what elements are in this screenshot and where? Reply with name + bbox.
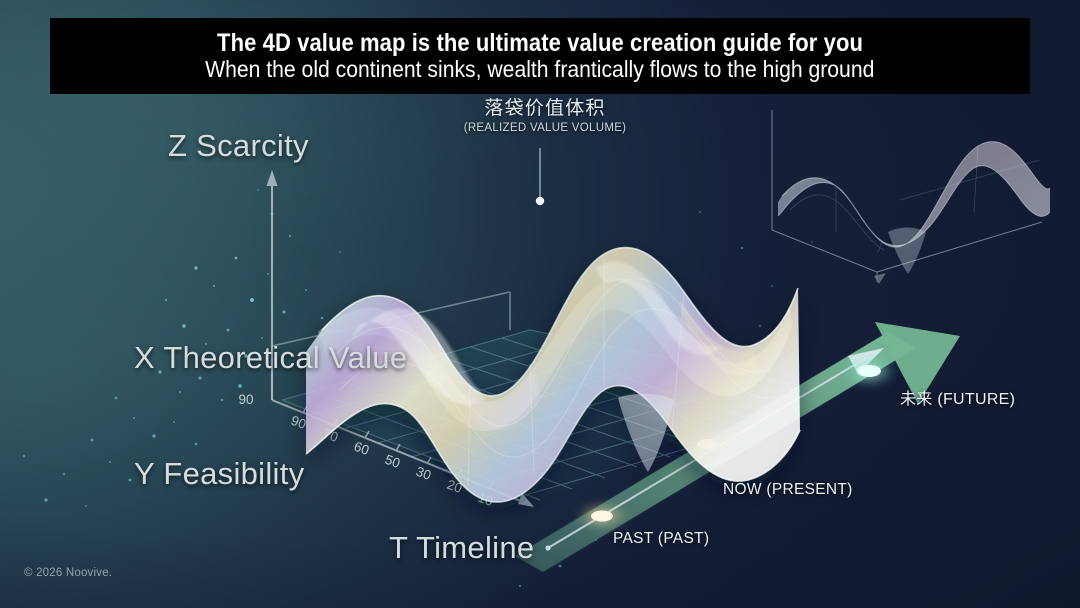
callout-english-text: (REALIZED VALUE VOLUME) [455,122,635,134]
axis-label-t: T Timeline [389,530,534,566]
surface-callout: 落袋价值体积 (REALIZED VALUE VOLUME) [455,98,635,134]
timeline-label-past: PAST (PAST) [613,530,709,548]
title-banner: The 4D value map is the ultimate value c… [50,18,1030,94]
axis-label-z: Z Scarcity [168,128,309,164]
title-headline: The 4D value map is the ultimate value c… [217,30,863,56]
infographic-canvas: 90 90 70 60 50 30 20 10 [0,0,1080,608]
timeline-label-future: 未来 (FUTURE) [900,385,1015,409]
callout-chinese-text: 落袋价值体积 [455,98,635,120]
axis-label-x: X Theoretical Value [134,340,407,376]
axis-label-y: Y Feasibility [134,456,304,492]
timeline-label-now: NOW (PRESENT) [723,481,853,499]
title-subhead: When the old continent sinks, wealth fra… [205,57,874,82]
copyright-notice: © 2026 Noovive. [24,567,112,579]
